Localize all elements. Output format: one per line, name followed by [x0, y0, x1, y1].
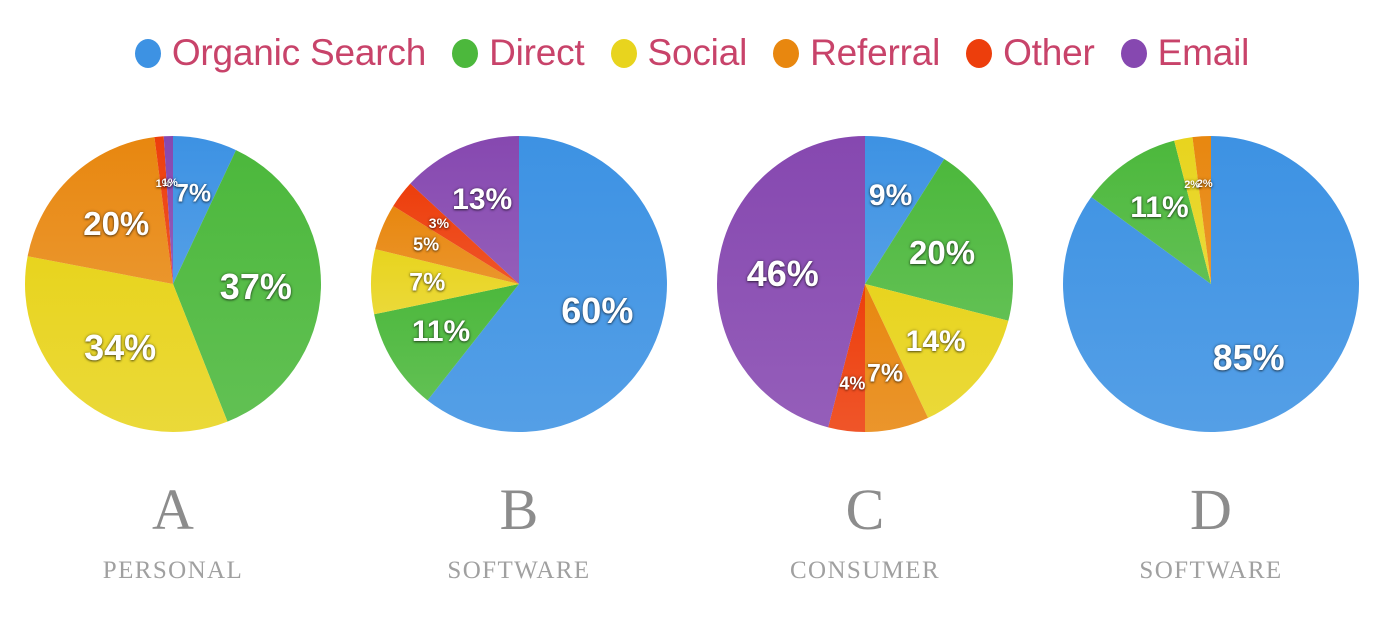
- pie-slices: [23, 134, 323, 434]
- pie-chart-d: 85%11%2%2%: [1038, 132, 1384, 472]
- caption-subtitle: SOFTWARE: [1038, 556, 1384, 586]
- pie-graphic: 85%11%2%2%: [1061, 134, 1361, 434]
- caption-letter: A: [0, 478, 346, 542]
- legend-item-label: Social: [648, 33, 748, 73]
- legend-swatch-direct-icon: [452, 39, 478, 68]
- pie-slices: [369, 134, 669, 434]
- pie-chart-c: 9%20%14%7%4%46%: [692, 132, 1038, 472]
- legend-item-label: Other: [1003, 33, 1095, 73]
- pie-slices: [715, 134, 1015, 434]
- caption-subtitle: PERSONAL: [0, 556, 346, 586]
- legend-item-label: Email: [1158, 33, 1250, 73]
- legend-swatch-other-icon: [966, 39, 992, 68]
- caption-row: APERSONALBSOFTWARECCONSUMERDSOFTWARE: [0, 478, 1384, 618]
- legend-item-label: Organic Search: [172, 33, 426, 73]
- legend-item-label: Direct: [489, 33, 584, 73]
- legend-item-social[interactable]: Social: [611, 33, 748, 73]
- caption-subtitle: SOFTWARE: [346, 556, 692, 586]
- caption-d: DSOFTWARE: [1038, 478, 1384, 618]
- legend-swatch-social-icon: [611, 39, 637, 68]
- caption-letter: C: [692, 478, 1038, 542]
- caption-subtitle: CONSUMER: [692, 556, 1038, 586]
- caption-letter: B: [346, 478, 692, 542]
- legend-swatch-email-icon: [1121, 39, 1147, 68]
- caption-b: BSOFTWARE: [346, 478, 692, 618]
- pie-graphic: 9%20%14%7%4%46%: [715, 134, 1015, 434]
- legend-swatch-referral-icon: [773, 39, 799, 68]
- chart-legend: Organic SearchDirectSocialReferralOtherE…: [0, 22, 1384, 84]
- legend-item-organic_search[interactable]: Organic Search: [135, 33, 426, 73]
- pie-chart-a: 7%37%34%20%1%1%: [0, 132, 346, 472]
- pie-chart-b: 60%11%7%5%3%13%: [346, 132, 692, 472]
- legend-item-referral[interactable]: Referral: [773, 33, 940, 73]
- legend-item-other[interactable]: Other: [966, 33, 1095, 73]
- legend-item-direct[interactable]: Direct: [452, 33, 584, 73]
- caption-c: CCONSUMER: [692, 478, 1038, 618]
- pie-chart-row: 7%37%34%20%1%1%60%11%7%5%3%13%9%20%14%7%…: [0, 132, 1384, 472]
- pie-slices: [1061, 134, 1361, 434]
- pie-graphic: 7%37%34%20%1%1%: [23, 134, 323, 434]
- legend-swatch-organic_search-icon: [135, 39, 161, 68]
- legend-item-email[interactable]: Email: [1121, 33, 1250, 73]
- pie-graphic: 60%11%7%5%3%13%: [369, 134, 669, 434]
- caption-a: APERSONAL: [0, 478, 346, 618]
- caption-letter: D: [1038, 478, 1384, 542]
- legend-item-label: Referral: [810, 33, 940, 73]
